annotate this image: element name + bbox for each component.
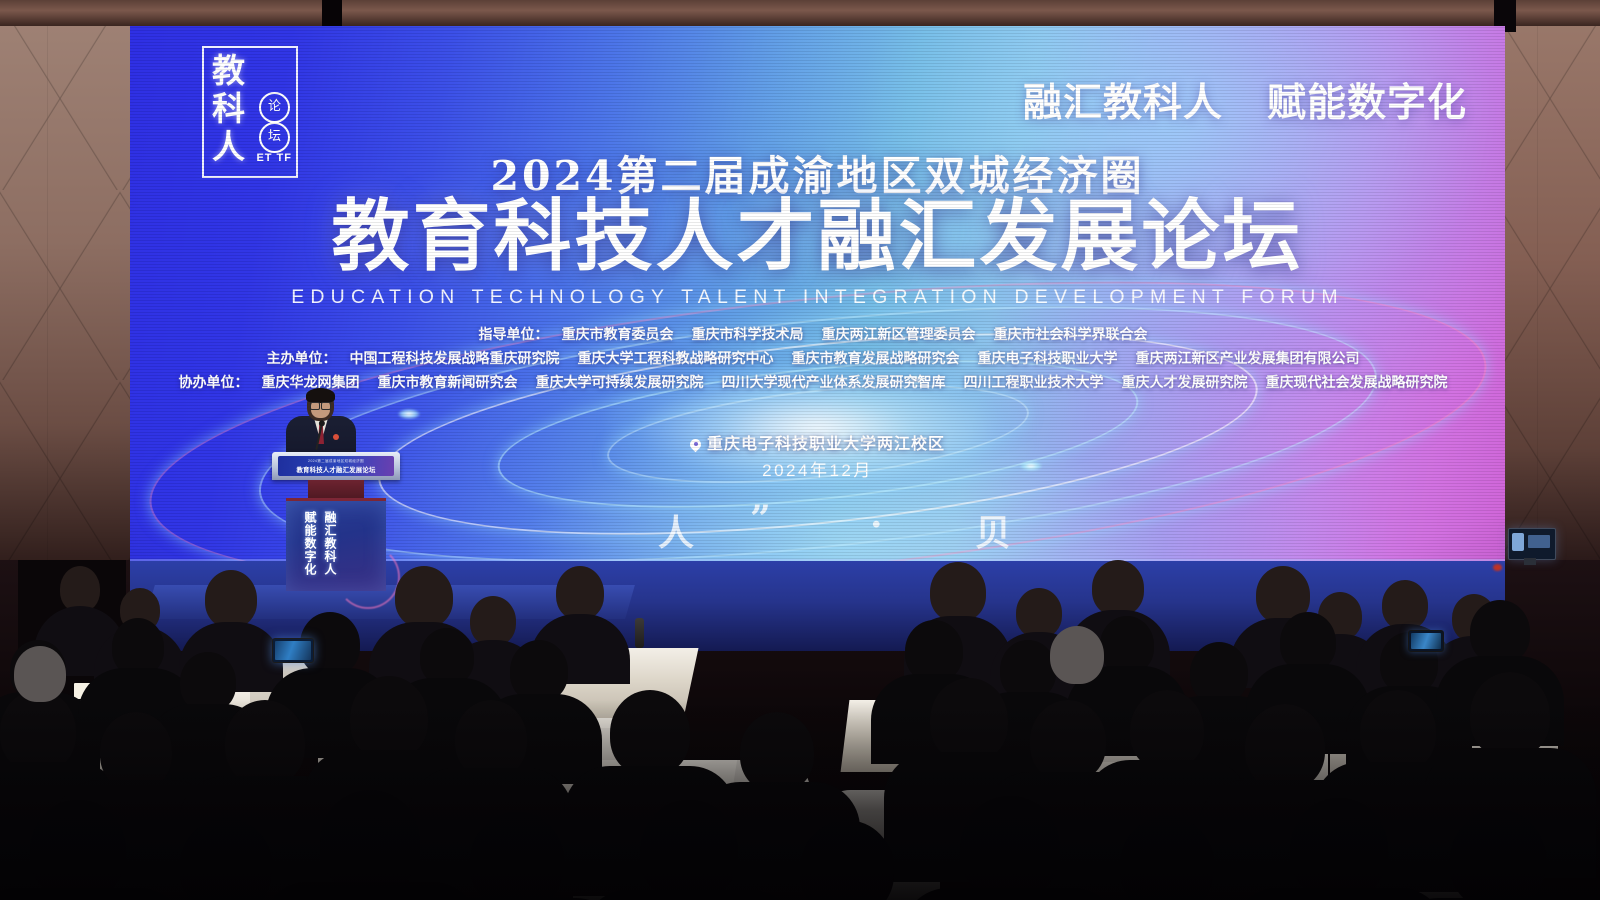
unit-item: 重庆两江新区管理委员会 xyxy=(822,326,976,342)
unit-item: 四川工程职业技术大学 xyxy=(964,374,1104,390)
slogan-left: 融汇教科人 xyxy=(1023,72,1223,128)
logo-circle-lun: 论 xyxy=(259,92,290,123)
unit-item: 重庆市教育新闻研究会 xyxy=(378,374,518,390)
screen-slogan: 融汇教科人赋能数字化 xyxy=(1023,72,1467,128)
podium-banner: 2024第二届成渝地区双城经济圈 教育科技人才融汇发展论坛 xyxy=(278,456,394,476)
title-main: 教育科技人才融汇发展论坛 xyxy=(130,194,1505,280)
unit-item: 重庆电子科技职业大学 xyxy=(978,350,1118,366)
speaker-hair xyxy=(306,388,335,403)
right-wall xyxy=(1490,0,1600,575)
lower-glyph-1: ” xyxy=(750,498,771,540)
unit-item: 重庆市社会科学界联合会 xyxy=(994,326,1148,342)
unit-item: 重庆人才发展研究院 xyxy=(1122,374,1248,390)
left-wall xyxy=(0,0,150,575)
title-english: EDUCATION TECHNOLOGY TALENT INTEGRATION … xyxy=(130,286,1505,309)
ceiling-beam xyxy=(0,0,1600,26)
podium-front-column-2: 赋能数字化 xyxy=(302,511,317,576)
lower-glyph-3: 贝 xyxy=(975,504,1011,556)
unit-row-label: 指导单位： xyxy=(479,326,549,342)
unit-item: 重庆市教育发展战略研究会 xyxy=(792,350,960,366)
podium-arc-graphic xyxy=(336,545,400,609)
foreground-shadow xyxy=(0,700,1600,900)
unit-item: 重庆市教育委员会 xyxy=(562,326,674,342)
podium-banner-large: 教育科技人才融汇发展论坛 xyxy=(278,465,394,474)
podium-banner-small: 2024第二届成渝地区双城经济圈 xyxy=(278,459,394,464)
unit-row-label: 协办单位： xyxy=(179,374,249,390)
lower-glyph-0: 人 xyxy=(658,504,694,556)
podium: 2024第二届成渝地区双城经济圈 教育科技人才融汇发展论坛 赋能数字化 融汇教科… xyxy=(272,440,400,588)
lower-glyph-2: · xyxy=(870,504,883,546)
slogan-right: 赋能数字化 xyxy=(1267,72,1467,128)
speaker-glasses xyxy=(310,402,331,408)
unit-item: 重庆华龙网集团 xyxy=(262,374,360,390)
wall-pattern-right xyxy=(1490,0,1600,575)
unit-row-2: 协办单位：重庆华龙网集团重庆市教育新闻研究会重庆大学可持续发展研究院四川大学现代… xyxy=(130,370,1505,394)
side-monitor-stand xyxy=(1524,558,1536,565)
unit-item: 四川大学现代产业体系发展研究智库 xyxy=(722,374,946,390)
venue-text: 重庆电子科技职业大学两江校区 xyxy=(707,436,945,453)
unit-item: 重庆两江新区产业发展集团有限公司 xyxy=(1136,350,1360,366)
podium-front-panel: 赋能数字化 融汇教科人 xyxy=(286,498,386,591)
conference-photo: 教科人 论 坛 ET TF 融汇教科人赋能数字化 2024第二届成渝地区双城经济… xyxy=(0,0,1600,900)
stage-red-light xyxy=(1493,564,1502,571)
side-monitor-screen xyxy=(1508,528,1556,560)
podium-front-column-1: 融汇教科人 xyxy=(322,511,337,576)
location-pin-icon xyxy=(690,439,701,450)
unit-item: 重庆现代社会发展战略研究院 xyxy=(1266,374,1448,390)
unit-item: 重庆大学工程科教战略研究中心 xyxy=(578,350,774,366)
orbit-spark-1 xyxy=(398,409,420,419)
unit-item: 重庆大学可持续发展研究院 xyxy=(536,374,704,390)
unit-item: 重庆市科学技术局 xyxy=(692,326,804,342)
unit-row-0: 指导单位：重庆市教育委员会重庆市科学技术局重庆两江新区管理委员会重庆市社会科学界… xyxy=(130,322,1505,346)
unit-item: 中国工程科技发展战略重庆研究院 xyxy=(350,350,560,366)
unit-row-1: 主办单位：中国工程科技发展战略重庆研究院重庆大学工程科教战略研究中心重庆市教育发… xyxy=(130,346,1505,370)
wall-pattern-left xyxy=(0,0,150,575)
unit-row-label: 主办单位： xyxy=(267,350,337,366)
organizing-units-block: 指导单位：重庆市教育委员会重庆市科学技术局重庆两江新区管理委员会重庆市社会科学界… xyxy=(130,322,1505,394)
